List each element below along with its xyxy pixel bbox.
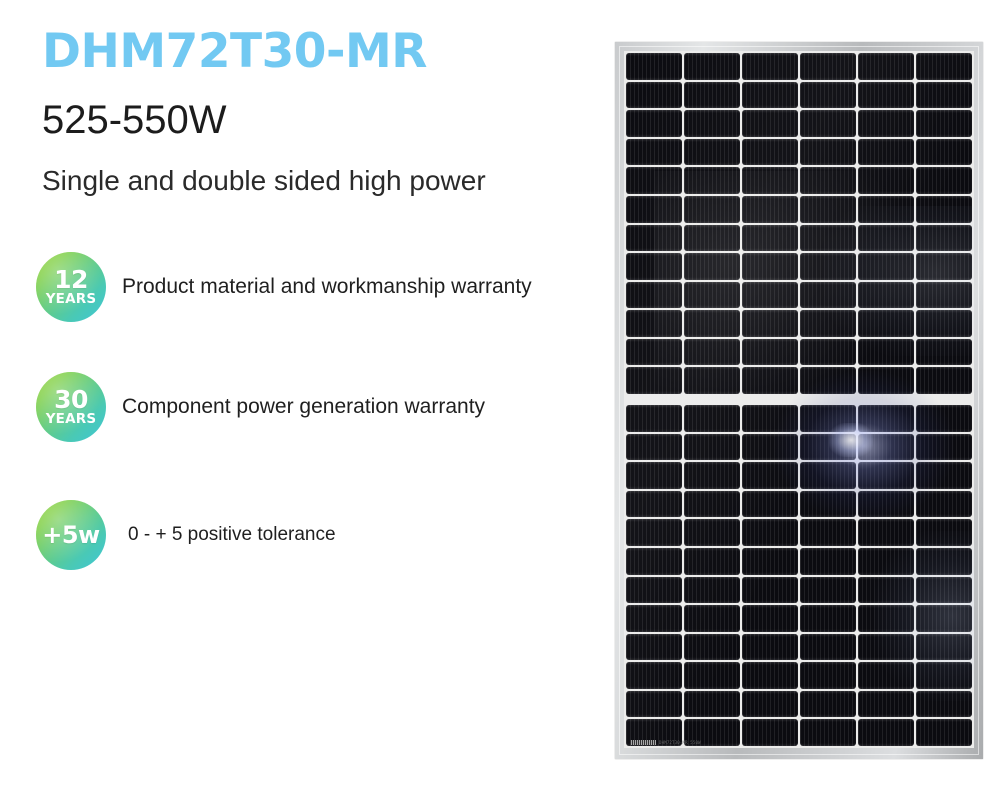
solar-cell xyxy=(916,139,972,166)
solar-cell xyxy=(800,310,856,337)
solar-cell xyxy=(626,662,682,689)
product-banner: DHM72T30-MR 525-550W Single and double s… xyxy=(0,0,1000,789)
solar-cell xyxy=(858,491,914,518)
solar-cell xyxy=(916,53,972,80)
solar-cell xyxy=(858,196,914,223)
solar-cell xyxy=(742,367,798,394)
solar-cell xyxy=(684,691,740,718)
solar-cell xyxy=(626,634,682,661)
solar-cell xyxy=(626,53,682,80)
solar-cell xyxy=(916,691,972,718)
solar-cell xyxy=(916,110,972,137)
solar-cell xyxy=(858,139,914,166)
solar-cell xyxy=(916,167,972,194)
solar-cell xyxy=(742,405,798,432)
solar-cell xyxy=(742,339,798,366)
solar-cell xyxy=(916,719,972,746)
solar-cell xyxy=(626,691,682,718)
solar-cell xyxy=(684,82,740,109)
solar-cell xyxy=(742,196,798,223)
solar-cell xyxy=(800,519,856,546)
solar-cell xyxy=(742,519,798,546)
solar-cell xyxy=(858,519,914,546)
solar-cell xyxy=(916,662,972,689)
solar-cell xyxy=(858,548,914,575)
solar-cell xyxy=(858,82,914,109)
solar-cell xyxy=(626,434,682,461)
solar-cell xyxy=(684,519,740,546)
panel-nameplate: DHM72T30-MR 550W xyxy=(630,739,726,746)
solar-cell xyxy=(916,253,972,280)
solar-cell xyxy=(742,634,798,661)
solar-cell xyxy=(800,196,856,223)
badge-30-years: 30 YEARS xyxy=(36,372,106,442)
solar-cell xyxy=(626,605,682,632)
solar-cell xyxy=(916,434,972,461)
solar-cell xyxy=(684,196,740,223)
solar-cell xyxy=(742,167,798,194)
solar-cell xyxy=(684,225,740,252)
solar-cell xyxy=(800,225,856,252)
solar-cell xyxy=(684,434,740,461)
badge-12-years: 12 YEARS xyxy=(36,252,106,322)
solar-cell xyxy=(858,310,914,337)
solar-cell xyxy=(916,310,972,337)
solar-cell xyxy=(916,605,972,632)
solar-cell xyxy=(916,405,972,432)
solar-cell xyxy=(916,196,972,223)
solar-cell xyxy=(916,282,972,309)
solar-cell xyxy=(684,577,740,604)
solar-cell xyxy=(742,662,798,689)
solar-cell xyxy=(684,662,740,689)
solar-cell xyxy=(626,310,682,337)
solar-cell xyxy=(742,577,798,604)
solar-cell xyxy=(742,282,798,309)
solar-cell xyxy=(916,491,972,518)
solar-cell xyxy=(800,434,856,461)
solar-cell xyxy=(684,367,740,394)
solar-cell xyxy=(742,53,798,80)
solar-cell xyxy=(800,367,856,394)
solar-cell xyxy=(684,139,740,166)
power-rating: 525-550W xyxy=(42,98,227,143)
solar-cell xyxy=(916,548,972,575)
solar-cell xyxy=(916,462,972,489)
solar-cell xyxy=(858,282,914,309)
solar-cell xyxy=(742,434,798,461)
solar-cell xyxy=(684,167,740,194)
solar-cell xyxy=(684,491,740,518)
center-busbar xyxy=(626,396,972,403)
solar-cell xyxy=(626,462,682,489)
solar-cell xyxy=(684,110,740,137)
solar-cell xyxy=(800,662,856,689)
badge-number: +5w xyxy=(42,523,99,547)
solar-cell xyxy=(684,605,740,632)
solar-cell xyxy=(800,110,856,137)
badge-unit: YEARS xyxy=(46,412,97,426)
solar-cell xyxy=(800,253,856,280)
solar-cell xyxy=(858,691,914,718)
solar-cell xyxy=(800,605,856,632)
solar-cell xyxy=(742,491,798,518)
solar-cell xyxy=(742,253,798,280)
solar-cell xyxy=(858,434,914,461)
solar-cell xyxy=(742,225,798,252)
solar-cell-grid xyxy=(624,51,974,748)
solar-cell xyxy=(684,282,740,309)
solar-cell xyxy=(800,405,856,432)
solar-cell xyxy=(626,339,682,366)
solar-cell xyxy=(800,282,856,309)
solar-cell xyxy=(742,310,798,337)
solar-cell xyxy=(684,310,740,337)
solar-cell xyxy=(626,82,682,109)
barcode-icon xyxy=(630,740,656,745)
solar-cell xyxy=(858,462,914,489)
solar-cell xyxy=(800,82,856,109)
solar-cell xyxy=(626,110,682,137)
feature-label: 0 - + 5 positive tolerance xyxy=(128,524,336,546)
badge-unit: YEARS xyxy=(46,292,97,306)
solar-cell xyxy=(916,82,972,109)
badge-number: 30 xyxy=(54,388,88,411)
solar-cell xyxy=(742,139,798,166)
solar-cell xyxy=(800,339,856,366)
solar-cell xyxy=(626,225,682,252)
solar-cell xyxy=(858,405,914,432)
solar-cell xyxy=(858,577,914,604)
solar-cell xyxy=(626,139,682,166)
solar-cell xyxy=(916,225,972,252)
page-title: DHM72T30-MR xyxy=(42,24,427,79)
solar-cell xyxy=(742,605,798,632)
solar-cell xyxy=(858,53,914,80)
solar-cell xyxy=(742,82,798,109)
solar-panel-image: DHM72T30-MR 550W xyxy=(615,42,983,759)
solar-cell xyxy=(684,53,740,80)
solar-cell xyxy=(858,719,914,746)
text-column: DHM72T30-MR 525-550W Single and double s… xyxy=(0,0,615,789)
solar-cell xyxy=(626,548,682,575)
solar-cell xyxy=(858,367,914,394)
solar-cell xyxy=(916,519,972,546)
solar-cell xyxy=(800,548,856,575)
badge-number: 12 xyxy=(54,268,88,291)
solar-cell xyxy=(800,53,856,80)
solar-cell xyxy=(916,367,972,394)
solar-cell xyxy=(800,691,856,718)
solar-cell xyxy=(684,462,740,489)
solar-cell xyxy=(800,577,856,604)
solar-cell xyxy=(858,253,914,280)
solar-cell xyxy=(626,491,682,518)
solar-cell xyxy=(626,405,682,432)
solar-cell xyxy=(626,253,682,280)
solar-cell xyxy=(800,719,856,746)
solar-cell xyxy=(916,339,972,366)
solar-cell xyxy=(858,110,914,137)
solar-cell xyxy=(742,462,798,489)
solar-cell xyxy=(800,167,856,194)
solar-cell xyxy=(626,282,682,309)
solar-cell xyxy=(626,367,682,394)
solar-cell xyxy=(684,634,740,661)
solar-cell xyxy=(626,196,682,223)
solar-cell xyxy=(684,339,740,366)
solar-cell xyxy=(858,662,914,689)
tagline: Single and double sided high power xyxy=(42,165,486,197)
solar-cell xyxy=(626,167,682,194)
solar-cell xyxy=(800,634,856,661)
feature-item-warranty-product: 12 YEARS Product material and workmanshi… xyxy=(36,252,532,322)
solar-cell xyxy=(742,691,798,718)
solar-cell xyxy=(858,167,914,194)
solar-cell xyxy=(800,139,856,166)
solar-cell xyxy=(742,719,798,746)
feature-item-warranty-power: 30 YEARS Component power generation warr… xyxy=(36,372,485,442)
solar-cell xyxy=(916,577,972,604)
solar-cell xyxy=(684,405,740,432)
solar-cell xyxy=(800,491,856,518)
feature-label: Component power generation warranty xyxy=(122,395,485,419)
solar-cell xyxy=(858,339,914,366)
feature-item-positive-tolerance: +5w 0 - + 5 positive tolerance xyxy=(36,500,336,570)
solar-cell xyxy=(742,110,798,137)
solar-cell xyxy=(684,253,740,280)
solar-cell xyxy=(742,548,798,575)
solar-cell xyxy=(684,548,740,575)
solar-cell xyxy=(800,462,856,489)
nameplate-text: DHM72T30-MR 550W xyxy=(659,740,701,745)
badge-plus-5w: +5w xyxy=(36,500,106,570)
solar-cell xyxy=(626,519,682,546)
solar-cell xyxy=(858,225,914,252)
panel-laminate: DHM72T30-MR 550W xyxy=(624,51,974,748)
solar-cell xyxy=(916,634,972,661)
solar-cell xyxy=(626,577,682,604)
solar-cell xyxy=(858,605,914,632)
feature-label: Product material and workmanship warrant… xyxy=(122,275,532,299)
solar-cell xyxy=(858,634,914,661)
